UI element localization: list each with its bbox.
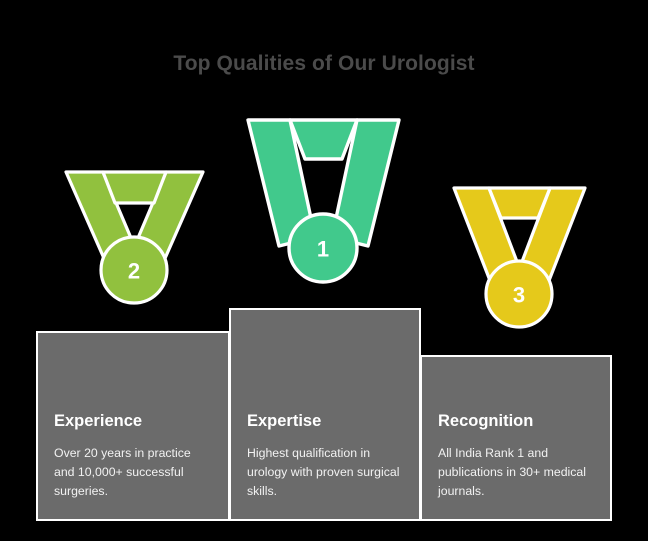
medal-1-ribbon-left	[248, 120, 315, 246]
medal-3-rank-label: 3	[513, 283, 525, 308]
medal-3-disc	[486, 261, 552, 327]
medal-3-ribbon-left	[454, 188, 527, 296]
infographic-canvas: Top Qualities of Our Urologist 2 1	[0, 0, 648, 541]
medal-2-disc	[101, 237, 167, 303]
medal-1-rank-label: 1	[317, 237, 329, 262]
podium-left-heading: Experience	[54, 412, 212, 430]
podium-right: Recognition All India Rank 1 and publica…	[420, 355, 612, 521]
podium-center-body: Highest qualification in urology with pr…	[247, 444, 403, 501]
podium-left-content: Experience Over 20 years in practice and…	[38, 412, 228, 519]
medal-3-ribbon-right	[512, 188, 585, 296]
medal-1-disc	[289, 214, 357, 282]
medal-2-rank-label: 2	[128, 259, 140, 284]
page-title: Top Qualities of Our Urologist	[0, 52, 648, 76]
medal-rank-3: 3	[454, 188, 585, 327]
medal-rank-2: 2	[66, 172, 203, 303]
medal-1-ribbon-top	[290, 120, 357, 159]
podium-right-body: All India Rank 1 and publications in 30+…	[438, 444, 594, 501]
podium-center-heading: Expertise	[247, 412, 403, 430]
medal-3-ribbon-top	[489, 188, 550, 218]
medal-2-ribbon-left	[66, 172, 142, 272]
podium-center: Expertise Highest qualification in urolo…	[229, 308, 421, 521]
medal-2-ribbon-top	[103, 172, 166, 203]
medal-2-ribbon-right	[127, 172, 203, 272]
podium-left: Experience Over 20 years in practice and…	[36, 331, 230, 521]
podium-right-content: Recognition All India Rank 1 and publica…	[422, 412, 610, 519]
medal-rank-1: 1	[248, 120, 399, 282]
podium-left-body: Over 20 years in practice and 10,000+ su…	[54, 444, 212, 501]
podium-right-heading: Recognition	[438, 412, 594, 430]
medal-1-ribbon-right	[332, 120, 399, 246]
podium-center-content: Expertise Highest qualification in urolo…	[231, 412, 419, 519]
